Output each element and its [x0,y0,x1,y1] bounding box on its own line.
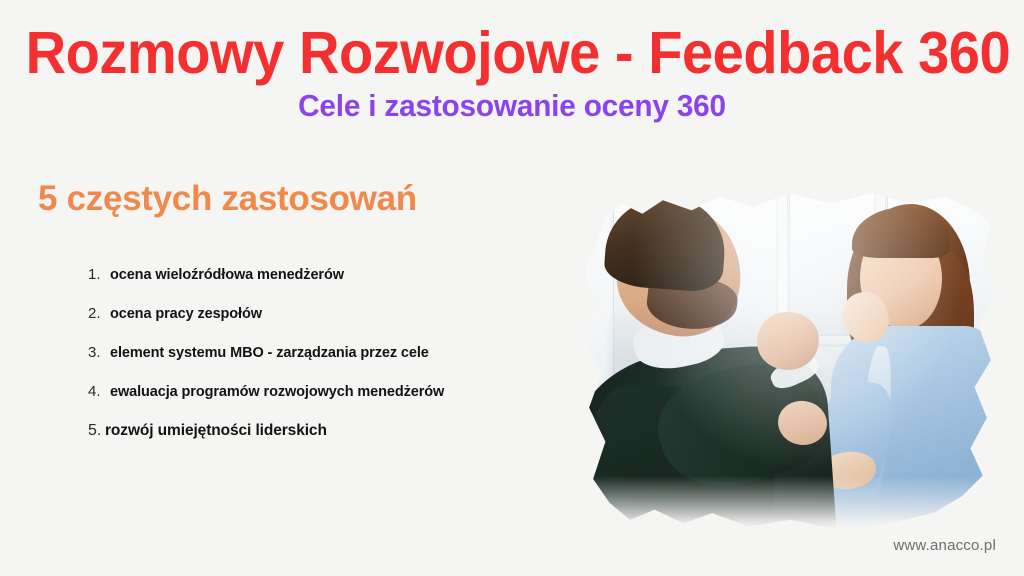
list-item: 3. element systemu MBO - zarządzania prz… [88,344,588,383]
list-item: 4. ewaluacja programów rozwojowych mened… [88,383,588,422]
list-item: 2. ocena pracy zespołów [88,305,588,344]
list-item-number: 1. [88,266,110,283]
list-item-label: ewaluacja programów rozwojowych menedżer… [110,384,444,400]
list-item-label: ocena wieloźródłowa menedżerów [110,267,344,283]
page-title: Rozmowy Rozwojowe - Feedback 360 [26,22,999,84]
list-item: 5. rozwój umiejętności liderskich [88,422,588,461]
list-item-number: 3. [88,344,110,361]
conversation-photo [585,190,995,530]
list-item-label: ocena pracy zespołów [110,306,262,322]
applications-list: 1. ocena wieloźródłowa menedżerów 2. oce… [48,266,588,461]
footer-website-url: www.anacco.pl [893,537,996,554]
list-item-number: 4. [88,383,110,400]
list-item: 1. ocena wieloźródłowa menedżerów [88,266,588,305]
list-item-label: rozwój umiejętności liderskich [105,422,327,440]
photo-torn-frame [585,190,995,530]
list-item-label: element systemu MBO - zarządzania przez … [110,345,429,361]
list-item-number: 2. [88,305,110,322]
list-item-number: 5. [88,422,105,440]
page-subtitle: Cele i zastosowanie oceny 360 [20,88,1003,124]
section-heading: 5 częstych zastosowań [38,178,417,220]
slide-canvas: Rozmowy Rozwojowe - Feedback 360 Cele i … [0,0,1024,576]
